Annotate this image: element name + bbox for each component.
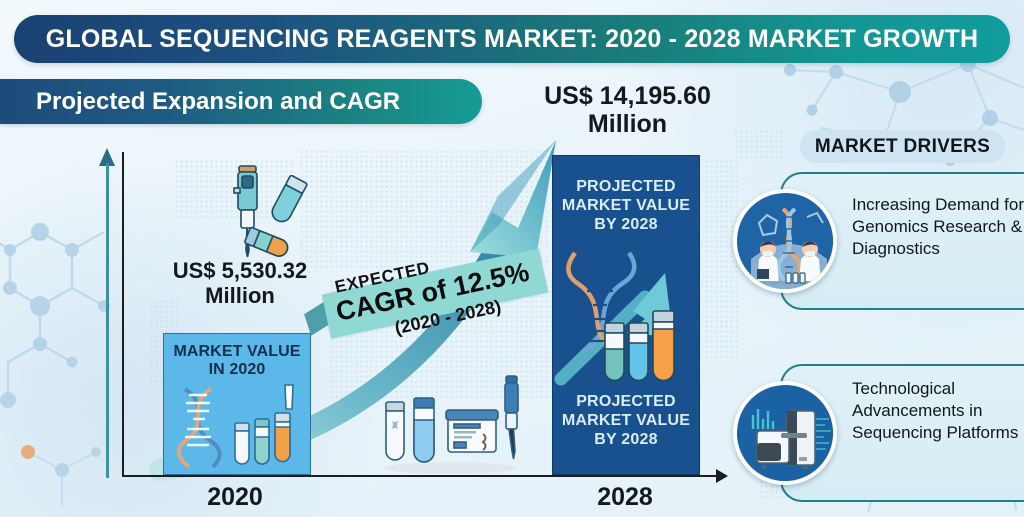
bar-2028-caption-bottom-line1: PROJECTED	[562, 393, 690, 412]
bar-2028-caption-top-line1: PROJECTED	[562, 178, 690, 197]
lab-equipment-icon	[370, 368, 530, 476]
sequencing-machine-icon	[733, 381, 837, 485]
value-2028-line1: US$ 14,195.60	[510, 82, 745, 110]
cagr-ribbon: EXPECTED CAGR of 12.5% (2020 - 2028)	[330, 243, 542, 338]
dna-arrow-tubes-icon-2028	[553, 239, 699, 389]
subtitle-pill: Projected Expansion and CAGR	[0, 79, 482, 124]
page-title: GLOBAL SEQUENCING REAGENTS MARKET: 2020 …	[46, 25, 978, 54]
x-axis-arrowhead	[716, 469, 728, 483]
market-drivers-label: MARKET DRIVERS	[815, 136, 990, 158]
page-title-banner: GLOBAL SEQUENCING REAGENTS MARKET: 2020 …	[14, 15, 1010, 63]
x-tick-2028: 2028	[565, 483, 685, 512]
growth-axis-line	[106, 163, 109, 478]
bar-2020-caption: MARKET VALUE IN 2020	[173, 343, 300, 379]
dna-tubes-icon-2020	[167, 383, 307, 469]
subtitle-label: Projected Expansion and CAGR	[36, 88, 400, 116]
bar-2028-caption-top: PROJECTED MARKET VALUE BY 2028	[562, 178, 690, 235]
bar-2028-caption-bottom-line2: MARKET VALUE	[562, 412, 690, 431]
value-2020-line2: Million	[150, 283, 330, 308]
bar-2020-caption-line2: IN 2020	[173, 361, 300, 379]
pipette-tubes-icon	[205, 158, 335, 263]
value-label-2028: US$ 14,195.60 Million	[510, 82, 745, 138]
infographic-root: GLOBAL SEQUENCING REAGENTS MARKET: 2020 …	[0, 0, 1024, 517]
cagr-ribbon-text: EXPECTED CAGR of 12.5% (2020 - 2028)	[322, 222, 549, 359]
bar-2028-caption-top-line2: MARKET VALUE	[562, 197, 690, 216]
value-2028-line2: Million	[510, 110, 745, 138]
bar-2028-caption-top-line3: BY 2028	[562, 216, 690, 235]
bar-2028: PROJECTED MARKET VALUE BY 2028	[552, 155, 700, 475]
x-tick-2020: 2020	[175, 483, 295, 512]
bar-2020-caption-line1: MARKET VALUE	[173, 343, 300, 361]
lab-researchers-dna-icon	[733, 189, 837, 293]
bar-2020: MARKET VALUE IN 2020	[163, 333, 311, 475]
market-driver-text-2: Technological Advancements in Sequencing…	[852, 378, 1024, 444]
market-drivers-badge: MARKET DRIVERS	[800, 130, 1005, 163]
value-label-2020: US$ 5,530.32 Million	[150, 258, 330, 308]
bar-2028-caption-bottom-line3: BY 2028	[562, 431, 690, 450]
bar-2028-caption-bottom: PROJECTED MARKET VALUE BY 2028	[562, 393, 690, 450]
y-axis	[122, 152, 124, 477]
market-driver-text-1: Increasing Demand for Genomics Research …	[852, 194, 1024, 260]
